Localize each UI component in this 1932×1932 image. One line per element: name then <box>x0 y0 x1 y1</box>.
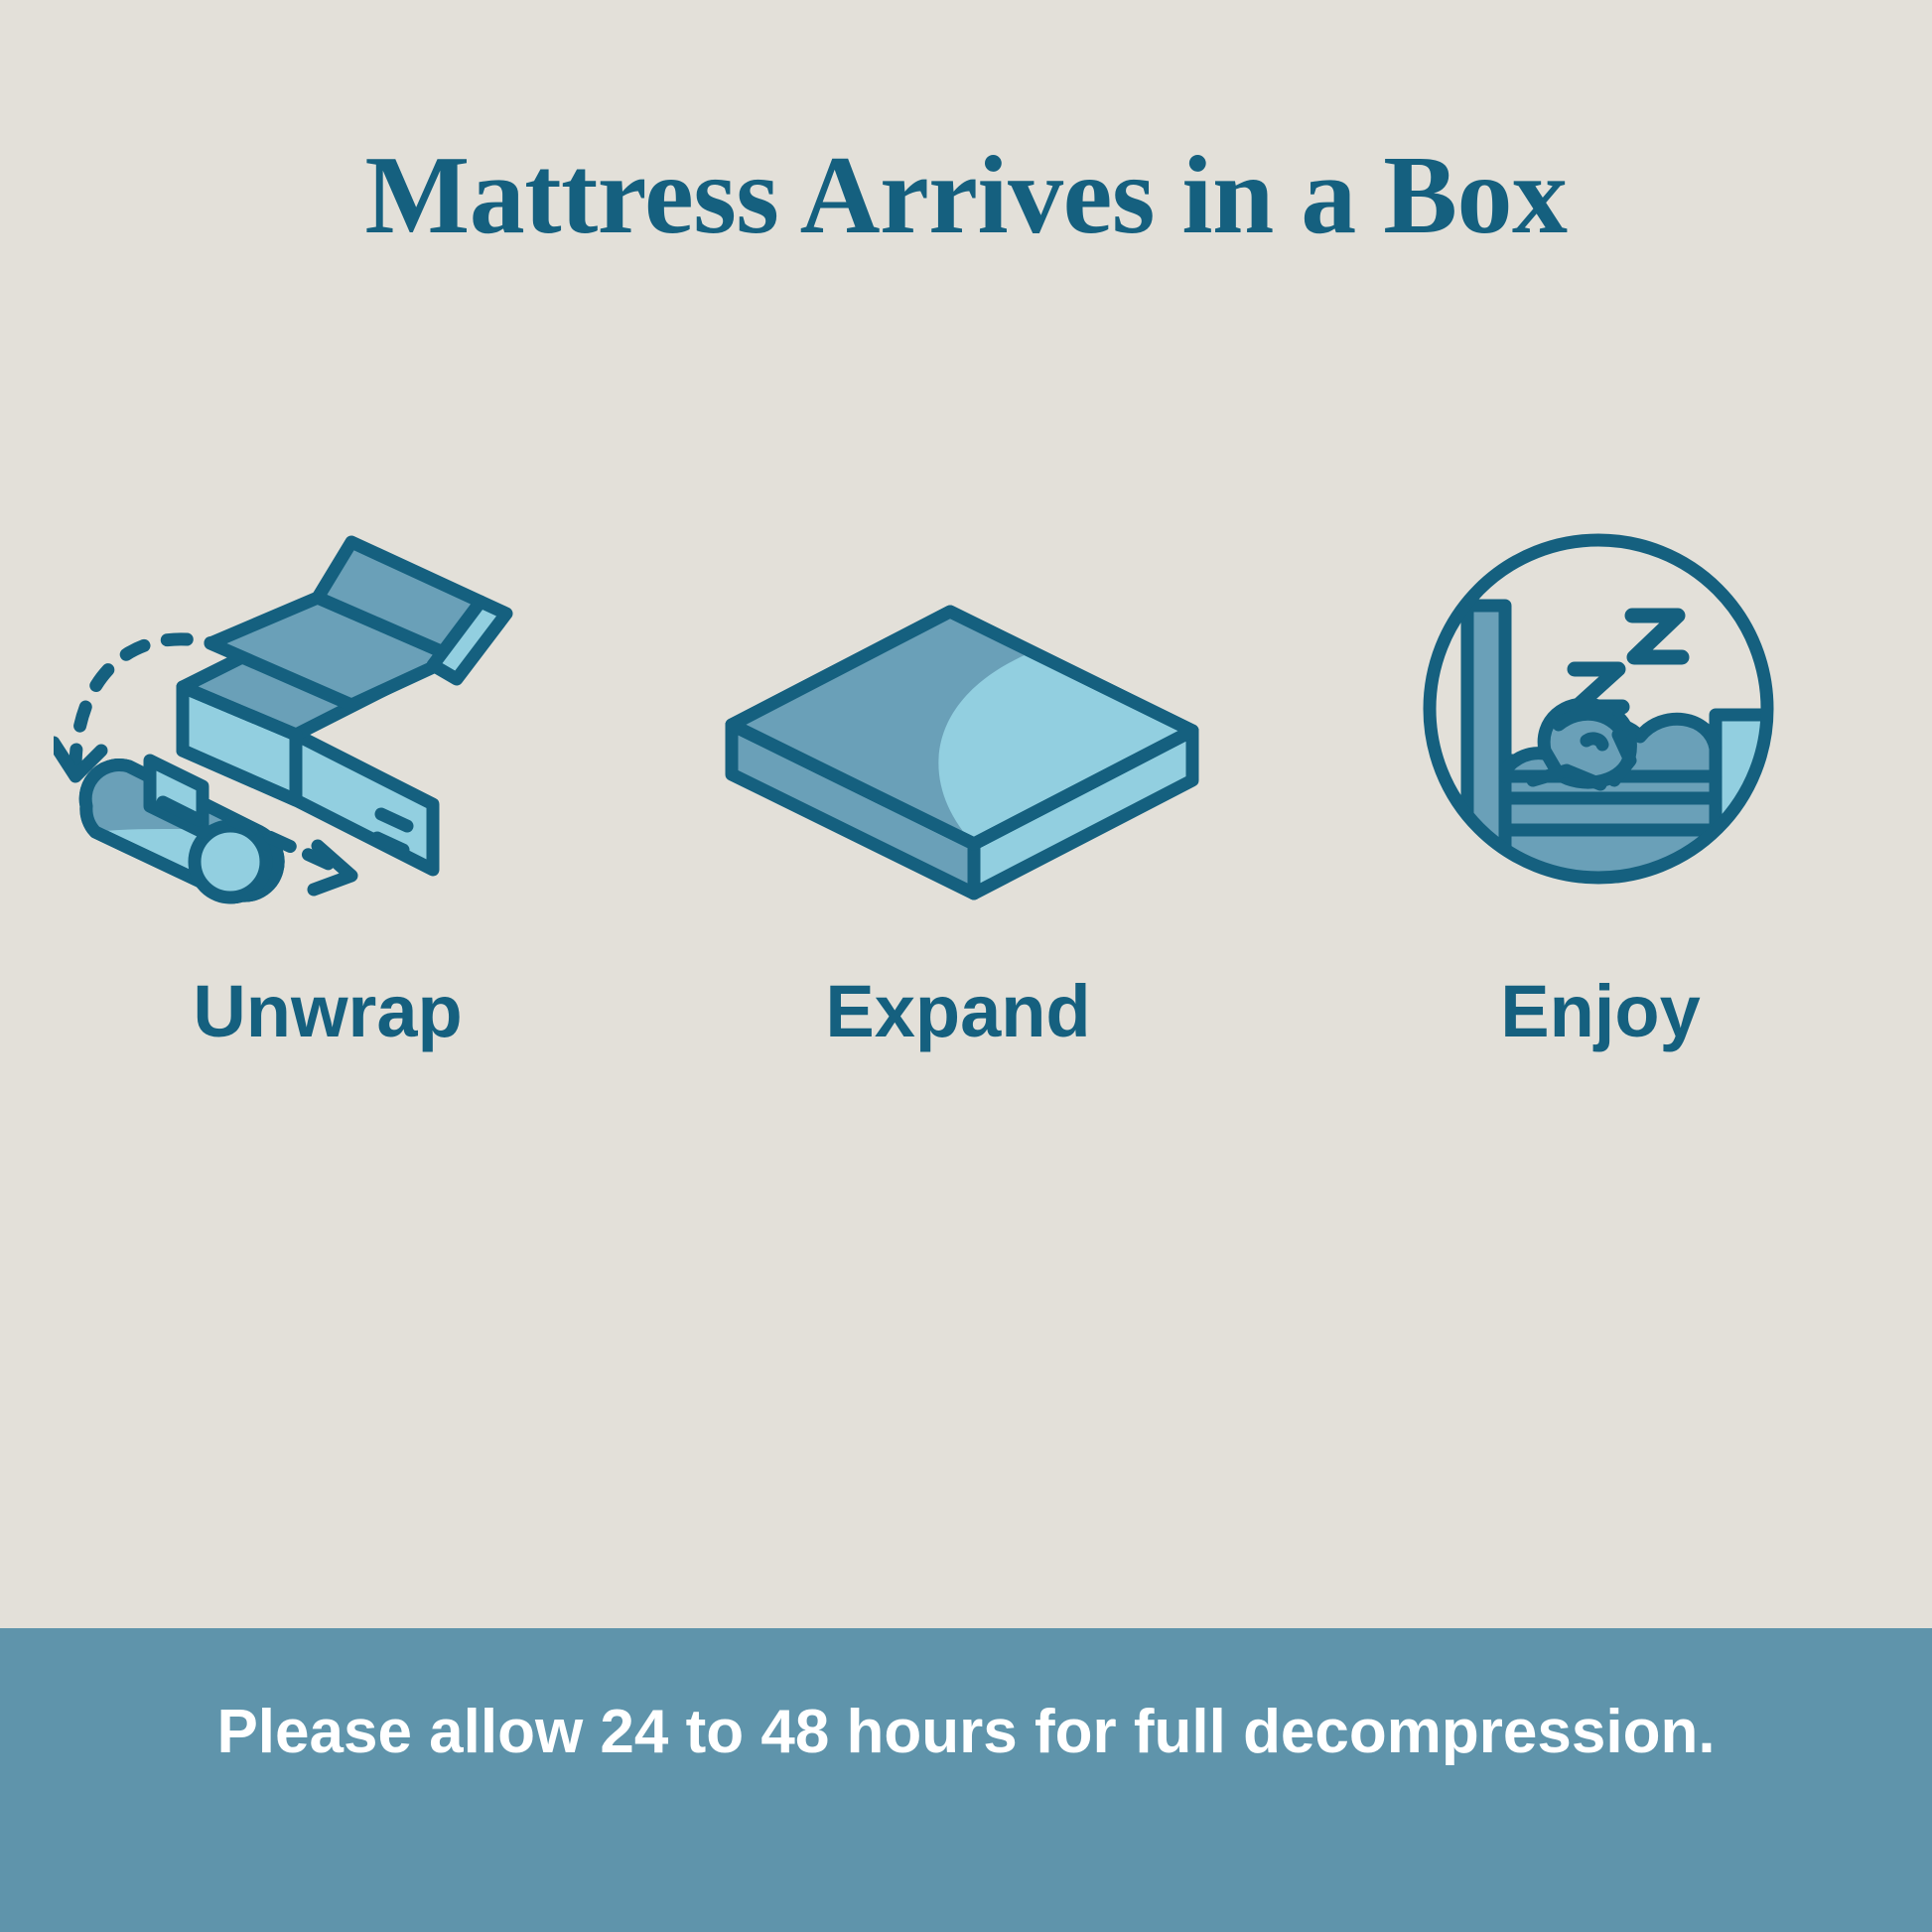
banner-note-text: Please allow 24 to 48 hours for full dec… <box>216 1699 1715 1766</box>
sleeping-person-in-bed-icon <box>1320 510 1876 907</box>
page-title: Mattress Arrives in a Box <box>0 135 1932 257</box>
step-label-unwrap: Unwrap <box>193 975 462 1048</box>
infographic-canvas: Mattress Arrives in a Box <box>0 0 1932 1932</box>
step-enjoy: Enjoy <box>1316 516 1872 1048</box>
bottom-banner: Please allow 24 to 48 hours for full dec… <box>0 1628 1932 1932</box>
sleep-letter-z-small <box>1575 669 1622 707</box>
bed-footboard <box>1716 715 1787 880</box>
flat-mattress-icon <box>684 540 1240 937</box>
step-label-enjoy: Enjoy <box>1500 975 1700 1048</box>
box-with-rolled-mattress-icon <box>54 516 610 913</box>
sleep-letter-z-large <box>1632 616 1682 657</box>
sleeping-person-eye <box>1587 739 1602 745</box>
step-label-expand: Expand <box>825 975 1090 1048</box>
steps-row: Unwrap <box>0 516 1932 1072</box>
step-unwrap: Unwrap <box>60 516 616 1048</box>
step-expand: Expand <box>688 516 1244 1048</box>
